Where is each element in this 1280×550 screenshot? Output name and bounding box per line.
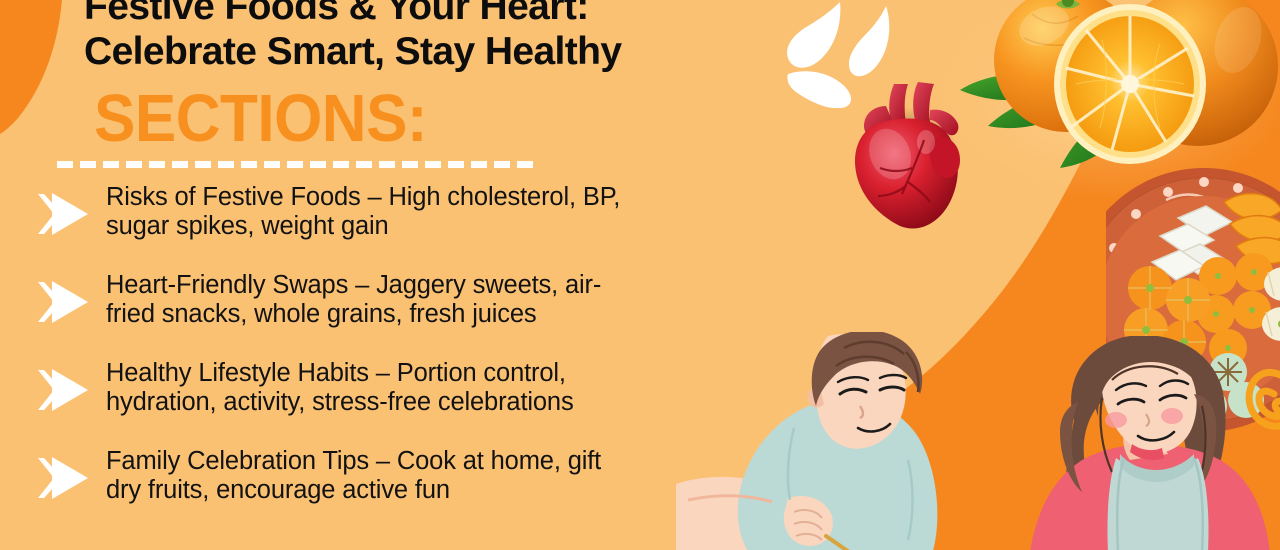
sections-list: Risks of Festive Foods – High cholestero…: [36, 183, 726, 505]
list-item-text: Risks of Festive Foods – High cholestero…: [98, 183, 698, 241]
list-item-text: Heart-Friendly Swaps – Jaggery sweets, a…: [98, 271, 698, 329]
list-item-line-1: Risks of Festive Foods – High cholestero…: [106, 183, 698, 212]
list-item-line-1: Family Celebration Tips – Cook at home, …: [106, 447, 698, 476]
list-item-line-1: Healthy Lifestyle Habits – Portion contr…: [106, 359, 698, 388]
list-item: Family Celebration Tips – Cook at home, …: [36, 447, 726, 505]
double-chevron-right-icon: [36, 191, 98, 237]
list-item: Healthy Lifestyle Habits – Portion contr…: [36, 359, 726, 417]
list-item-text: Healthy Lifestyle Habits – Portion contr…: [98, 359, 698, 417]
list-item-line-1: Heart-Friendly Swaps – Jaggery sweets, a…: [106, 271, 698, 300]
headline-line-1: Festive Foods & Your Heart:: [84, 0, 589, 28]
list-item: Risks of Festive Foods – High cholestero…: [36, 183, 726, 241]
headline-line-2: Celebrate Smart, Stay Healthy: [84, 29, 709, 74]
sections-label: SECTIONS:: [94, 86, 427, 153]
dashed-divider: [57, 161, 533, 168]
list-item-line-2: hydration, activity, stress-free celebra…: [106, 388, 698, 417]
list-item-line-2: fried snacks, whole grains, fresh juices: [106, 300, 698, 329]
infographic-canvas: Festive Foods & Your Heart: Celebrate Sm…: [0, 0, 1280, 550]
double-chevron-right-icon: [36, 279, 98, 325]
double-chevron-right-icon: [36, 455, 98, 501]
content-column: Festive Foods & Your Heart: Celebrate Sm…: [0, 0, 730, 550]
list-item-text: Family Celebration Tips – Cook at home, …: [98, 447, 698, 505]
list-item-line-2: dry fruits, encourage active fun: [106, 476, 698, 505]
double-chevron-right-icon: [36, 367, 98, 413]
list-item: Heart-Friendly Swaps – Jaggery sweets, a…: [36, 271, 726, 329]
page-title: Festive Foods & Your Heart: Celebrate Sm…: [84, 0, 709, 74]
list-item-line-2: sugar spikes, weight gain: [106, 212, 698, 241]
